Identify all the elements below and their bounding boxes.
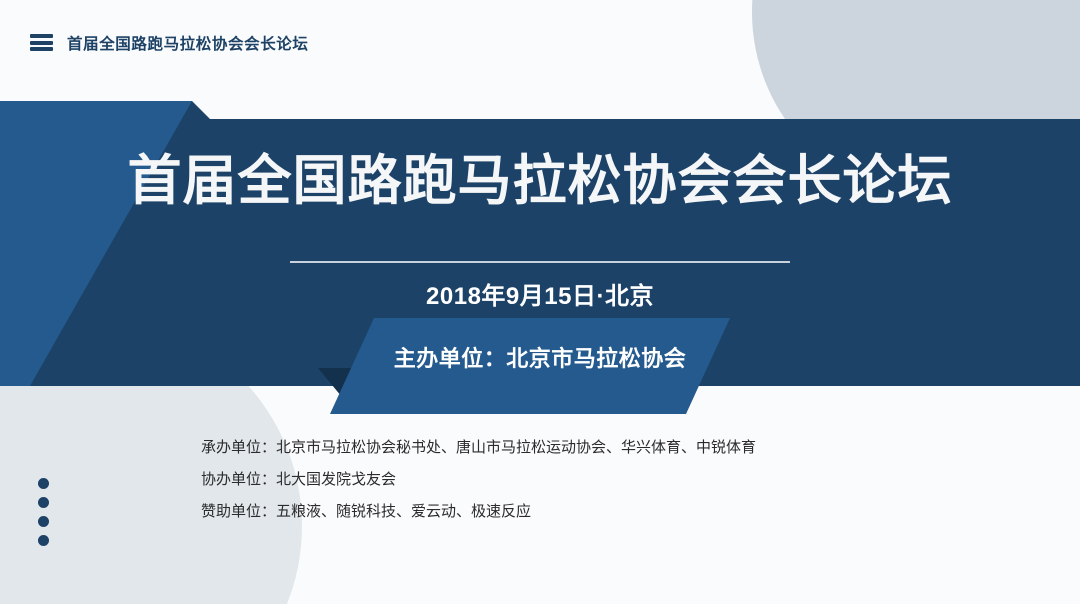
header-title: 首届全国路跑马拉松协会会长论坛: [67, 32, 309, 54]
credit-line-executor: 承办单位：北京市马拉松协会秘书处、唐山市马拉松运动协会、华兴体育、中锐体育: [201, 440, 756, 455]
decorative-dot-4: [38, 535, 49, 546]
decorative-dot-1: [38, 478, 49, 489]
credits-block: 承办单位：北京市马拉松协会秘书处、唐山市马拉松运动协会、华兴体育、中锐体育 协办…: [201, 440, 756, 519]
decorative-dot-column: [38, 478, 49, 546]
organizer-label: 主办单位：北京市马拉松协会: [0, 341, 1080, 373]
credit-line-sponsor: 赞助单位：五粮液、随锐科技、爱云动、极速反应: [201, 504, 756, 519]
presentation-slide: 首届全国路跑马拉松协会会长论坛 首届全国路跑马拉松协会会长论坛 2018年9月1…: [0, 0, 1080, 604]
hamburger-bar-3: [30, 47, 53, 51]
page-header: 首届全国路跑马拉松协会会长论坛: [0, 0, 1080, 85]
decorative-dot-2: [38, 497, 49, 508]
page-title: 首届全国路跑马拉松协会会长论坛: [0, 154, 1080, 208]
event-date: 2018年9月15日·北京: [0, 276, 1080, 311]
decorative-dot-3: [38, 516, 49, 527]
hamburger-icon[interactable]: [30, 34, 53, 51]
hamburger-bar-2: [30, 41, 53, 45]
hamburger-bar-1: [30, 34, 53, 38]
title-divider: [290, 261, 790, 263]
credit-line-coorganizer: 协办单位：北大国发院戈友会: [201, 472, 756, 487]
